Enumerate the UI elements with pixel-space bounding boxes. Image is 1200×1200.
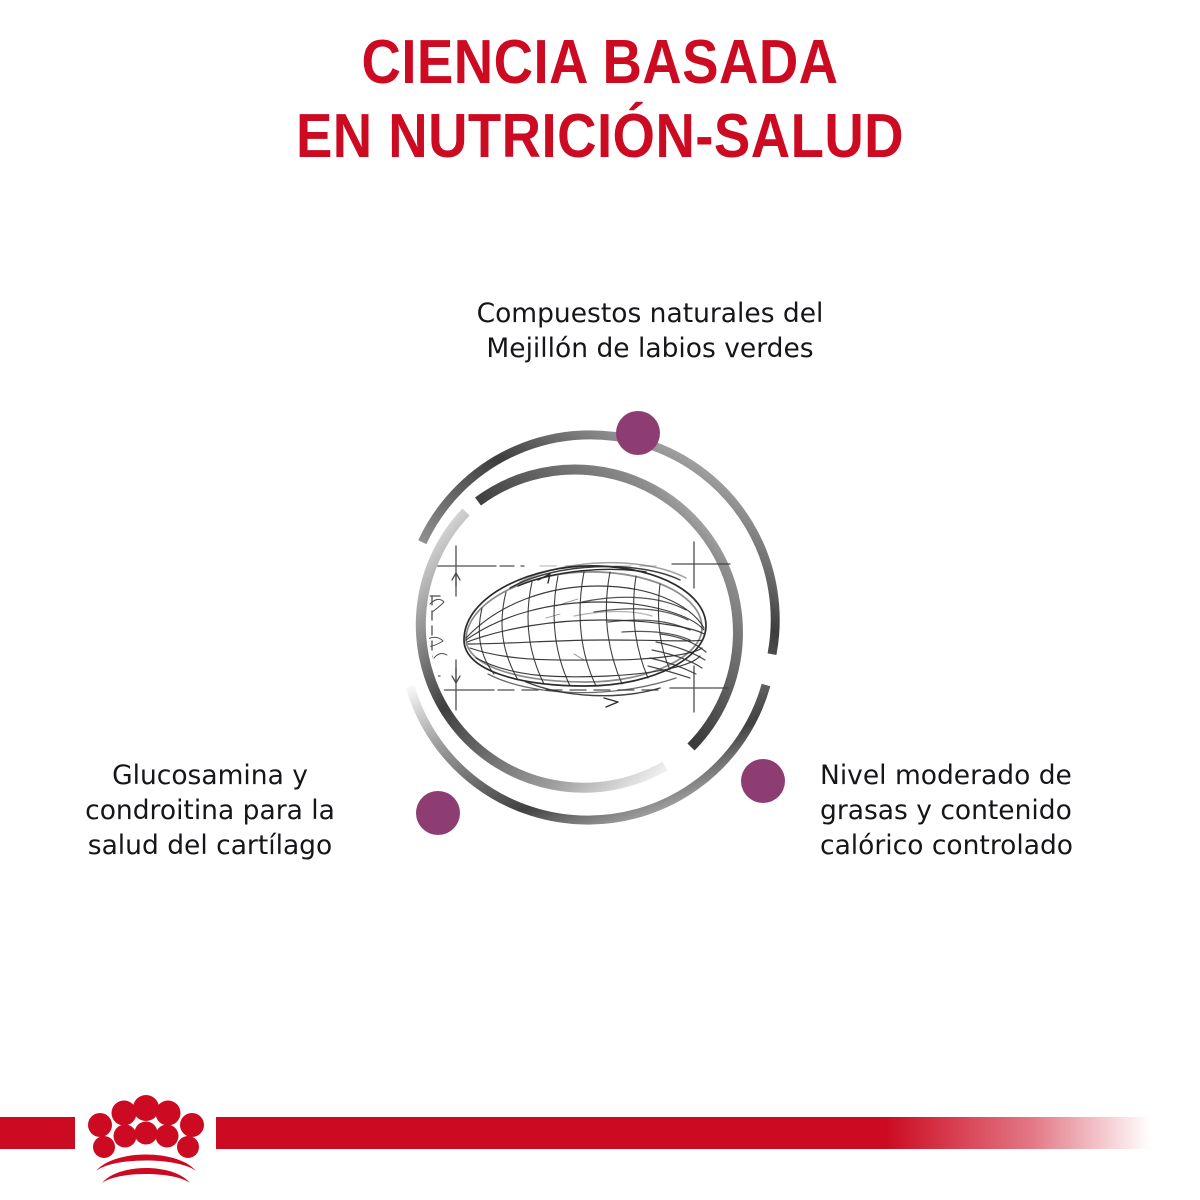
crown-icon [88,1095,204,1183]
page-title-line-1: CIENCIA BASADA [72,26,1128,100]
ring-group [410,435,775,820]
callout-left-line-2: condroitina para la [20,793,400,828]
kibble-sketch [424,542,730,712]
node-dot-top [616,411,660,455]
callout-left-line-1: Glucosamina y [20,758,400,793]
inner-ring-arc-right [478,470,738,747]
outer-ring-arc-bottom [410,685,766,820]
callout-label-top: Compuestos naturales del Mejillón de lab… [400,296,900,366]
callout-right-line-1: Nivel moderado de [820,758,1180,793]
footer-brand-bar [0,1085,1200,1200]
brand-bar-left-segment [0,1117,75,1149]
kibble-diagram [360,390,820,850]
page-title: CIENCIA BASADA EN NUTRICIÓN-SALUD [72,26,1128,174]
callout-right-line-3: calórico controlado [820,828,1180,863]
callout-label-right: Nivel moderado de grasas y contenido cal… [820,758,1180,863]
inner-ring-arc-left [421,512,665,788]
callout-right-line-2: grasas y contenido [820,793,1180,828]
callout-left-line-3: salud del cartílago [20,828,400,863]
node-dot-right [741,759,785,803]
page-title-line-2: EN NUTRICIÓN-SALUD [72,100,1128,174]
callout-top-line-1: Compuestos naturales del [400,296,900,331]
callout-top-line-2: Mejillón de labios verdes [400,331,900,366]
callout-label-left: Glucosamina y condroitina para la salud … [20,758,400,863]
royal-canin-crown-logo [76,1091,216,1183]
brand-bar-right-segment [216,1117,1200,1149]
node-dot-bottom-left [416,791,460,835]
promo-page: CIENCIA BASADA EN NUTRICIÓN-SALUD Compue… [0,0,1200,1200]
